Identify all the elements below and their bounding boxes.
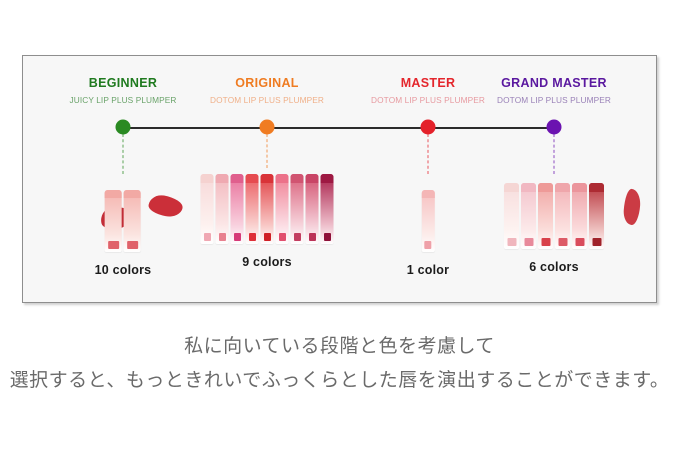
- stage-title-beginner: BEGINNER: [69, 76, 176, 91]
- product-group-beginner: 10 colors: [95, 174, 152, 277]
- stage-title-grand-master: GRAND MASTER: [497, 76, 611, 91]
- stage-subtitle-original: DOTOM LIP PLUS PLUMPER: [210, 94, 324, 107]
- lip-tube: [216, 174, 229, 244]
- dot-icon: [421, 120, 436, 135]
- color-count-beginner: 10 colors: [95, 263, 152, 277]
- lip-tube: [105, 190, 122, 252]
- lip-tube: [321, 174, 334, 244]
- product-group-grand-master: 6 colors: [504, 171, 604, 274]
- product-group-master: 1 color: [407, 174, 449, 277]
- tube-cap: [231, 174, 244, 183]
- stage-subtitle-grand-master: DOTOM LIP PLUS PLUMPER: [497, 94, 611, 107]
- lip-tube: [421, 190, 434, 252]
- color-count-master: 1 color: [407, 263, 449, 277]
- tube-shade-label: [324, 233, 331, 241]
- tube-cap: [421, 190, 434, 198]
- tube-cap: [321, 174, 334, 183]
- tube-shade-label: [294, 233, 301, 241]
- tube-shade-label: [264, 233, 271, 241]
- tube-cap: [276, 174, 289, 183]
- stage-title-original: ORIGINAL: [210, 76, 324, 91]
- tube-cap: [538, 183, 553, 192]
- tube-cap: [306, 174, 319, 183]
- timeline-dot-original[interactable]: [260, 120, 275, 135]
- connector-line-master: [428, 134, 429, 174]
- tube-shade-label: [219, 233, 226, 241]
- tube-cap: [572, 183, 587, 192]
- connector-line-beginner: [123, 134, 124, 174]
- tube-cap: [555, 183, 570, 192]
- lip-tube: [291, 174, 304, 244]
- tube-shade-label: [249, 233, 256, 241]
- tube-shade-label: [108, 241, 119, 249]
- lip-tube: [201, 174, 214, 244]
- tube-shade-label: [592, 238, 601, 246]
- tube-shade-label: [204, 233, 211, 241]
- tube-shade-label: [524, 238, 533, 246]
- tube-shade-label: [558, 238, 567, 246]
- lip-tube: [589, 183, 604, 249]
- tube-shade-label: [279, 233, 286, 241]
- lip-tube: [231, 174, 244, 244]
- tube-shade-label: [575, 238, 584, 246]
- color-count-original: 9 colors: [201, 255, 334, 269]
- product-image-master: [407, 174, 449, 252]
- lip-tube: [555, 183, 570, 249]
- product-image-grand-master: [504, 171, 604, 249]
- lip-tube: [124, 190, 141, 252]
- stage-heading-master: MASTERDOTOM LIP PLUS PLUMPER: [371, 76, 485, 107]
- color-count-grand-master: 6 colors: [504, 260, 604, 274]
- tube-cap: [105, 190, 122, 198]
- stage-chart-panel: BEGINNERJUICY LIP PLUS PLUMPERORIGINALDO…: [22, 55, 657, 303]
- connector-line-grand-master: [554, 134, 555, 174]
- stage-heading-beginner: BEGINNERJUICY LIP PLUS PLUMPER: [69, 76, 176, 107]
- product-group-original: 9 colors: [201, 166, 334, 269]
- tube-cap: [216, 174, 229, 183]
- timeline-dot-beginner[interactable]: [116, 120, 131, 135]
- stage-subtitle-master: DOTOM LIP PLUS PLUMPER: [371, 94, 485, 107]
- product-image-original: [201, 166, 334, 244]
- tube-cap: [589, 183, 604, 192]
- lip-tube: [521, 183, 536, 249]
- product-image-beginner: [95, 174, 152, 252]
- tube-cap: [291, 174, 304, 183]
- lip-tube: [276, 174, 289, 244]
- tube-cap: [124, 190, 141, 198]
- connector-line-original: [267, 134, 268, 168]
- dot-icon: [116, 120, 131, 135]
- dot-icon: [260, 120, 275, 135]
- tube-cap: [521, 183, 536, 192]
- stage-title-master: MASTER: [371, 76, 485, 91]
- caption-line-1: 私に向いている段階と色を考慮して: [0, 330, 679, 364]
- tube-cap: [261, 174, 274, 183]
- caption-text: 私に向いている段階と色を考慮して 選択すると、もっときれいでふっくらとした唇を演…: [0, 330, 679, 398]
- tube-shade-label: [424, 241, 431, 249]
- timeline-axis: [123, 127, 554, 129]
- timeline-dot-master[interactable]: [421, 120, 436, 135]
- tube-shade-label: [127, 241, 138, 249]
- dot-icon: [547, 120, 562, 135]
- tube-cap: [504, 183, 519, 192]
- lip-tube: [572, 183, 587, 249]
- tube-cap: [246, 174, 259, 183]
- stage-heading-original: ORIGINALDOTOM LIP PLUS PLUMPER: [210, 76, 324, 107]
- stage-heading-grand-master: GRAND MASTERDOTOM LIP PLUS PLUMPER: [497, 76, 611, 107]
- tube-shade-label: [541, 238, 550, 246]
- lip-tube: [538, 183, 553, 249]
- tube-shade-label: [234, 233, 241, 241]
- stage-subtitle-beginner: JUICY LIP PLUS PLUMPER: [69, 94, 176, 107]
- caption-line-2: 選択すると、もっときれいでふっくらとした唇を演出することができます。: [0, 364, 679, 398]
- lip-tube: [306, 174, 319, 244]
- timeline-dot-grand-master[interactable]: [547, 120, 562, 135]
- tube-cap: [201, 174, 214, 183]
- lip-tube: [261, 174, 274, 244]
- lip-tube: [246, 174, 259, 244]
- tube-shade-label: [309, 233, 316, 241]
- lip-tube: [504, 183, 519, 249]
- tube-shade-label: [507, 238, 516, 246]
